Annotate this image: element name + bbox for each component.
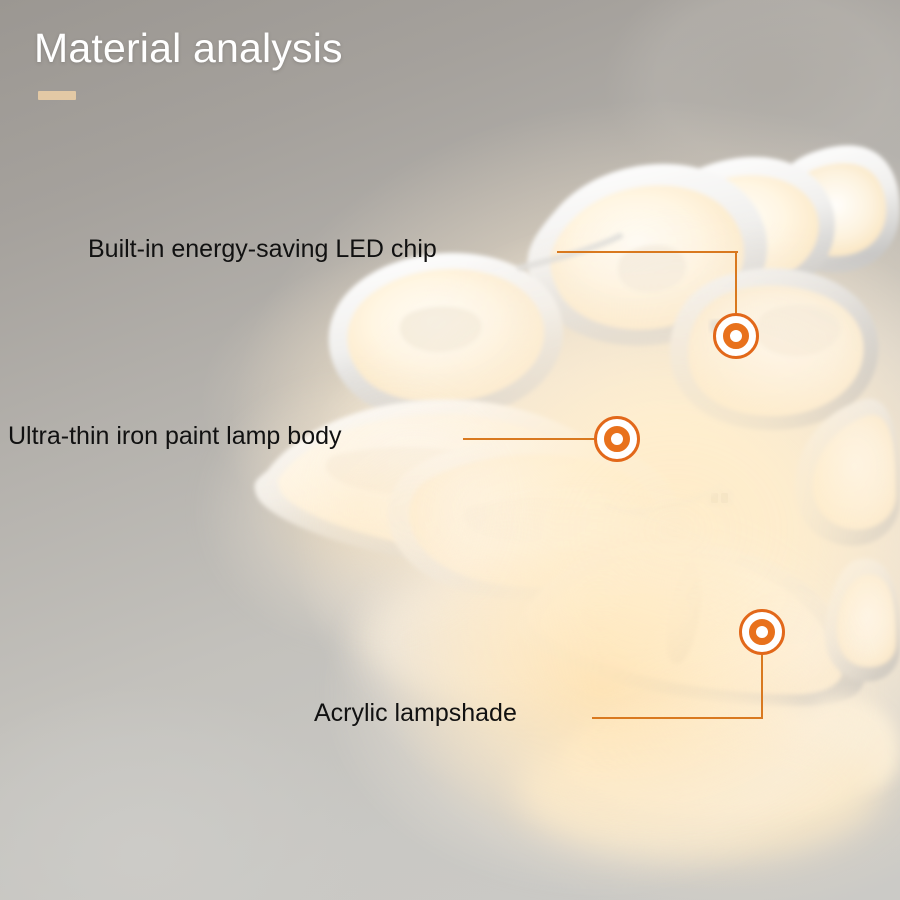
marker-inner-ring xyxy=(749,619,775,645)
marker-inner-ring xyxy=(604,426,630,452)
infographic-canvas: Material analysis Built-in energy-saving… xyxy=(0,0,900,900)
leader-line-led-chip-vertical xyxy=(735,251,737,315)
callout-label-lampshade: Acrylic lampshade xyxy=(314,701,517,726)
leader-line-lampshade-vertical xyxy=(761,654,763,718)
leader-line-lamp-body-horizontal xyxy=(463,438,603,440)
page-title: Material analysis xyxy=(34,28,343,69)
marker-inner-ring xyxy=(723,323,749,349)
marker-lamp-body[interactable] xyxy=(594,416,640,462)
leader-line-led-chip-horizontal xyxy=(557,251,738,253)
callout-label-lamp-body: Ultra-thin iron paint lamp body xyxy=(8,424,342,449)
leader-line-lampshade-horizontal xyxy=(592,717,763,719)
marker-led-chip[interactable] xyxy=(713,313,759,359)
lamp-glow-left xyxy=(150,330,570,690)
marker-lampshade[interactable] xyxy=(739,609,785,655)
callout-label-led-chip: Built-in energy-saving LED chip xyxy=(88,237,437,262)
title-accent-bar xyxy=(38,91,76,100)
